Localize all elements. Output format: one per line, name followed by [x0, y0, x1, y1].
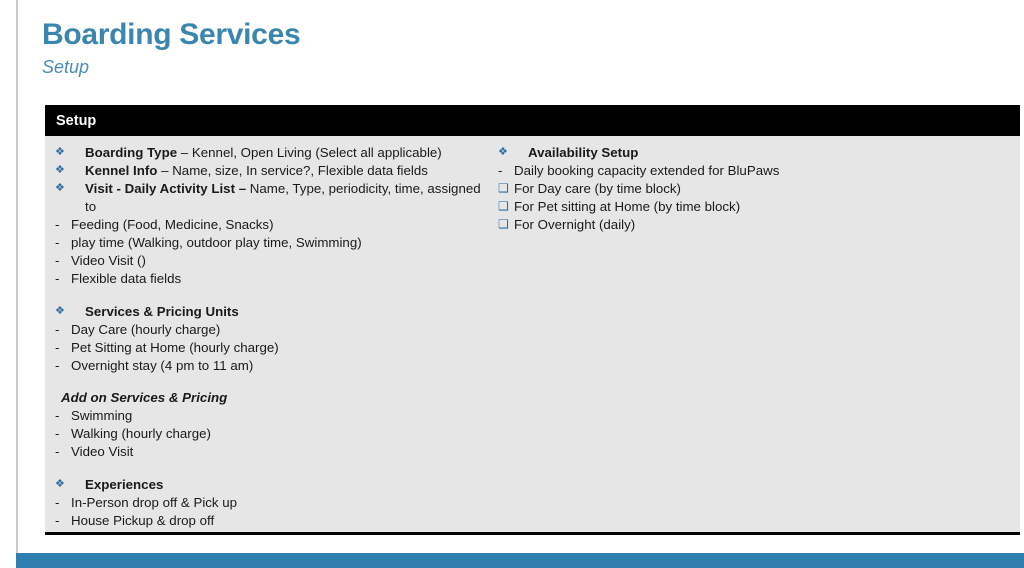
diamond-bullet-icon: ❖ — [55, 144, 83, 162]
list-item-label: Feeding (Food, Medicine, Snacks) — [71, 216, 495, 234]
list-item-label: Flexible data fields — [71, 270, 495, 288]
list-item-label: Kennel Info – Name, size, In service?, F… — [83, 162, 495, 180]
list-item-label: Video Visit () — [71, 252, 495, 270]
list-item: -Overnight stay (4 pm to 11 am) — [55, 357, 495, 375]
list-item: ❑For Overnight (daily) — [498, 216, 995, 234]
list-item-lead: Kennel Info — [85, 163, 157, 178]
list-item-label: Day Care (hourly charge) — [71, 321, 495, 339]
list-item: ❖Services & Pricing Units — [55, 303, 495, 321]
list-item-label: House Pickup & drop off — [71, 512, 495, 530]
list-item: ❖Visit - Daily Activity List – Name, Typ… — [55, 180, 495, 215]
panel-body: ❖Boarding Type – Kennel, Open Living (Se… — [45, 136, 1020, 530]
list-item: -Swimming — [55, 407, 495, 425]
list-item: ❖Boarding Type – Kennel, Open Living (Se… — [55, 144, 495, 162]
left-edge-rule — [16, 0, 18, 568]
list-item-lead: Availability Setup — [528, 145, 638, 160]
diamond-bullet-icon: ❖ — [55, 162, 83, 180]
list-spacer — [55, 288, 495, 303]
right-column: ❖Availability Setup-Daily booking capaci… — [495, 144, 995, 530]
list-item-lead: Experiences — [85, 477, 163, 492]
list-item: -Walking (hourly charge) — [55, 425, 495, 443]
diamond-bullet-icon: ❖ — [55, 476, 83, 494]
dash-bullet-icon: - — [55, 357, 71, 375]
dash-bullet-icon: - — [55, 216, 71, 234]
list-item-detail: – Name, size, In service?, Flexible data… — [157, 163, 428, 178]
list-item-lead: Boarding Type — [85, 145, 177, 160]
diamond-bullet-icon: ❖ — [55, 180, 83, 198]
list-item: -Video Visit — [55, 443, 495, 461]
list-item-label: Services & Pricing Units — [83, 303, 495, 321]
list-item: -play time (Walking, outdoor play time, … — [55, 234, 495, 252]
list-item: -Pet Sitting at Home (hourly charge) — [55, 339, 495, 357]
dash-bullet-icon: - — [55, 270, 71, 288]
list-item-label: play time (Walking, outdoor play time, S… — [71, 234, 495, 252]
dash-bullet-icon: - — [55, 321, 71, 339]
list-spacer — [55, 461, 495, 476]
list-spacer — [55, 375, 495, 389]
list-item: -Daily booking capacity extended for Blu… — [498, 162, 995, 180]
diamond-bullet-icon: ❖ — [55, 303, 83, 321]
panel-header: Setup — [45, 105, 1020, 136]
page-subtitle: Setup — [42, 57, 742, 79]
list-item-label: In-Person drop off & Pick up — [71, 494, 495, 512]
list-item-label: For Day care (by time block) — [514, 180, 995, 198]
list-item-label: Walking (hourly charge) — [71, 425, 495, 443]
dash-bullet-icon: - — [55, 339, 71, 357]
dash-bullet-icon: - — [55, 252, 71, 270]
list-item: ❑For Pet sitting at Home (by time block) — [498, 198, 995, 216]
list-item-lead: Services & Pricing Units — [85, 304, 239, 319]
list-item: Add on Services & Pricing — [55, 389, 495, 407]
list-item-label: Video Visit — [71, 443, 495, 461]
list-item-label: For Overnight (daily) — [514, 216, 995, 234]
list-item: -Video Visit () — [55, 252, 495, 270]
list-item: -House Pickup & drop off — [55, 512, 495, 530]
list-item: ❖Kennel Info – Name, size, In service?, … — [55, 162, 495, 180]
square-checkbox-icon: ❑ — [498, 180, 514, 198]
list-item-label: Overnight stay (4 pm to 11 am) — [71, 357, 495, 375]
list-item-label: Availability Setup — [526, 144, 995, 162]
setup-panel: Setup ❖Boarding Type – Kennel, Open Livi… — [45, 105, 1020, 535]
list-item-detail: – Kennel, Open Living (Select all applic… — [177, 145, 442, 160]
list-item-label: Pet Sitting at Home (hourly charge) — [71, 339, 495, 357]
slide-heading: Boarding Services Setup — [42, 18, 742, 79]
left-column: ❖Boarding Type – Kennel, Open Living (Se… — [45, 144, 495, 530]
list-item-label: Experiences — [83, 476, 495, 494]
dash-bullet-icon: - — [55, 494, 71, 512]
list-item-lead: Visit - Daily Activity List – — [85, 181, 246, 196]
dash-bullet-icon: - — [55, 512, 71, 530]
dash-bullet-icon: - — [55, 425, 71, 443]
square-checkbox-icon: ❑ — [498, 216, 514, 234]
footer-accent-band — [16, 553, 1024, 568]
list-item-label: Visit - Daily Activity List – Name, Type… — [83, 180, 495, 215]
list-item-label: Daily booking capacity extended for BluP… — [514, 162, 995, 180]
page-title: Boarding Services — [42, 18, 742, 51]
list-item-label: Add on Services & Pricing — [55, 389, 495, 407]
list-item-label: Boarding Type – Kennel, Open Living (Sel… — [83, 144, 495, 162]
list-item-label: Swimming — [71, 407, 495, 425]
list-item: ❖Availability Setup — [498, 144, 995, 162]
dash-bullet-icon: - — [55, 443, 71, 461]
list-item: -Feeding (Food, Medicine, Snacks) — [55, 216, 495, 234]
list-item-label: For Pet sitting at Home (by time block) — [514, 198, 995, 216]
diamond-bullet-icon: ❖ — [498, 144, 526, 162]
list-item: -In-Person drop off & Pick up — [55, 494, 495, 512]
list-item: ❑For Day care (by time block) — [498, 180, 995, 198]
panel-header-label: Setup — [56, 113, 96, 129]
dash-bullet-icon: - — [498, 162, 514, 180]
list-item: -Flexible data fields — [55, 270, 495, 288]
list-item: -Day Care (hourly charge) — [55, 321, 495, 339]
square-checkbox-icon: ❑ — [498, 198, 514, 216]
dash-bullet-icon: - — [55, 407, 71, 425]
list-item: ❖Experiences — [55, 476, 495, 494]
dash-bullet-icon: - — [55, 234, 71, 252]
